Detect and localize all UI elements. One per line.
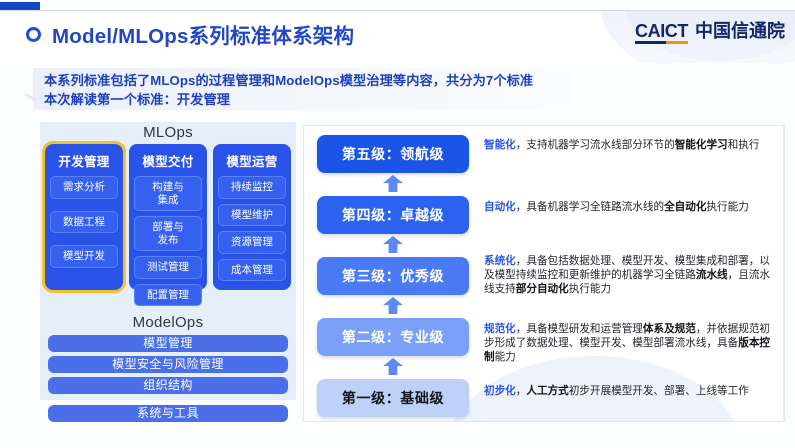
maturity-level-description: 规范化，具备模型研发和运营管理体系及规范，并依据规范初步形成了数据处理、模型开发… <box>484 322 771 365</box>
up-arrow-icon <box>383 236 403 253</box>
mlops-item[interactable]: 资源管理 <box>218 231 286 254</box>
maturity-level-box[interactable]: 第二级：专业级 <box>317 318 469 356</box>
mlops-column-head[interactable]: 模型交付 <box>134 149 202 171</box>
maturity-level-description: 自动化，具备机器学习全链路流水线的全自动化执行能力 <box>484 200 771 214</box>
mlops-item[interactable]: 构建与集成 <box>134 176 202 211</box>
maturity-level-box[interactable]: 第一级：基础级 <box>317 379 469 417</box>
logo-mark: CAICT <box>635 22 688 44</box>
top-accent-bar <box>0 2 40 10</box>
mlops-column: 开发管理需求分析数据工程模型开发 <box>45 144 123 290</box>
up-arrow-icon <box>383 175 403 192</box>
architecture-panel: MLOps 开发管理需求分析数据工程模型开发模型交付构建与集成部署与发布测试管理… <box>40 122 296 422</box>
mlops-item[interactable]: 测试管理 <box>134 256 202 279</box>
maturity-level-description: 智能化，支持机器学习流水线部分环节的智能化学习和执行 <box>484 138 771 152</box>
logo-mark-text: CAICT <box>635 21 688 41</box>
mlops-item[interactable]: 部署与发布 <box>134 216 202 251</box>
subtitle-line-1: 本系列标准包括了MLOps的过程管理和ModelOps模型治理等内容，共分为7个… <box>44 71 574 90</box>
modelops-bar[interactable]: 模型安全与风险管理 <box>48 356 288 373</box>
maturity-level-description: 初步化，人工方式初步开展模型开发、部署、上线等工作 <box>484 384 771 398</box>
logo-text-cn: 中国信通院 <box>695 22 785 44</box>
maturity-panel: 第五级：领航级智能化，支持机器学习流水线部分环节的智能化学习和执行第四级：卓越级… <box>303 125 785 422</box>
mlops-item[interactable]: 模型维护 <box>218 204 286 227</box>
subtitle-text: 本系列标准包括了MLOps的过程管理和ModelOps模型治理等内容，共分为7个… <box>44 71 574 109</box>
modelops-section: ModelOps 模型管理 模型安全与风险管理 组织结构 <box>40 312 296 400</box>
mlops-item[interactable]: 模型开发 <box>50 245 118 268</box>
mlops-column-head[interactable]: 模型运营 <box>218 149 286 171</box>
up-arrow-icon <box>383 358 403 375</box>
maturity-level-box[interactable]: 第五级：领航级 <box>317 135 469 173</box>
up-arrow-icon <box>383 297 403 314</box>
panel-right-divider <box>783 126 784 422</box>
mlops-item[interactable]: 配置管理 <box>134 284 202 307</box>
maturity-level-box[interactable]: 第四级：卓越级 <box>317 196 469 234</box>
mlops-item[interactable]: 持续监控 <box>218 176 286 199</box>
maturity-level-description: 系统化，具备包括数据处理、模型开发、模型集成和部署，以及模型持续监控和更新维护的… <box>484 254 771 297</box>
caict-logo: CAICT 中国信通院 <box>635 22 785 44</box>
ring-icon <box>26 27 41 42</box>
modelops-bar[interactable]: 组织结构 <box>48 377 288 394</box>
mlops-item[interactable]: 需求分析 <box>50 176 118 199</box>
mlops-item[interactable]: 数据工程 <box>50 211 118 234</box>
mlops-section-label: MLOps <box>40 124 296 141</box>
mlops-columns: 开发管理需求分析数据工程模型开发模型交付构建与集成部署与发布测试管理配置管理模型… <box>45 144 291 290</box>
mlops-column-head[interactable]: 开发管理 <box>50 149 118 171</box>
page-title: Model/MLOps系列标准体系架构 <box>52 19 354 49</box>
foundation-bar[interactable]: 系统与工具 <box>48 405 288 422</box>
maturity-levels: 第五级：领航级智能化，支持机器学习流水线部分环节的智能化学习和执行第四级：卓越级… <box>304 126 784 421</box>
slide-root: Model/MLOps系列标准体系架构 CAICT 中国信通院 本系列标准包括了… <box>0 0 795 448</box>
modelops-section-label: ModelOps <box>40 314 296 331</box>
mlops-column: 模型交付构建与集成部署与发布测试管理配置管理 <box>129 144 207 290</box>
subtitle-line-2: 本次解读第一个标准：开发管理 <box>44 90 574 109</box>
mlops-column: 模型运营持续监控模型维护资源管理成本管理 <box>213 144 291 290</box>
maturity-level-box[interactable]: 第三级：优秀级 <box>317 257 469 295</box>
logo-underline <box>635 41 688 44</box>
modelops-bar[interactable]: 模型管理 <box>48 335 288 352</box>
mlops-item[interactable]: 成本管理 <box>218 259 286 282</box>
page-title-group: Model/MLOps系列标准体系架构 <box>26 19 354 49</box>
